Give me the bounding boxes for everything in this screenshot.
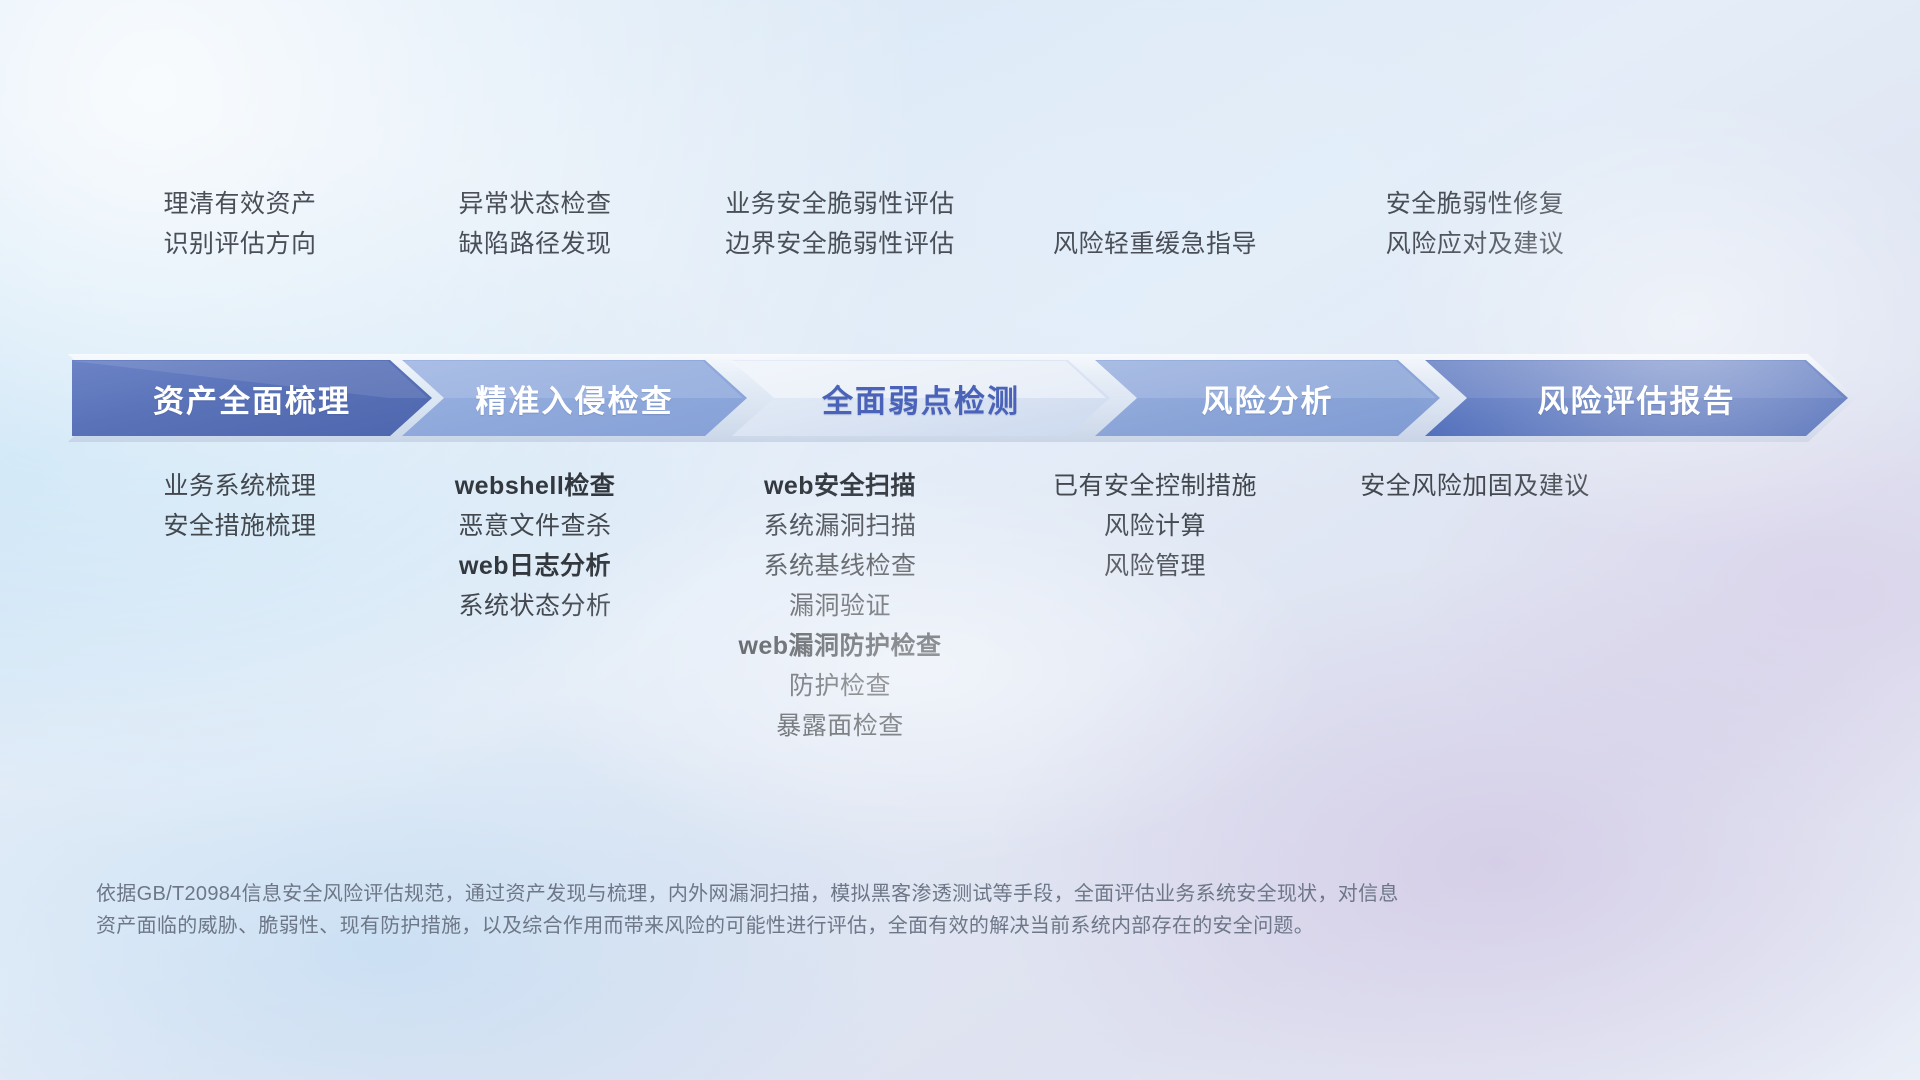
top-notes-risk-analysis: 风险轻重缓急指导 [1000, 184, 1310, 264]
list-item: web漏洞防护检查 [680, 626, 1000, 666]
top-notes-asset-inventory: 理清有效资产 识别评估方向 [90, 184, 390, 264]
top-notes-row: 理清有效资产 识别评估方向 异常状态检查 缺陷路径发现 业务安全脆弱性评估 边界… [90, 184, 1840, 264]
top-note: 缺陷路径发现 [390, 224, 680, 264]
list-item: 暴露面检查 [680, 706, 1000, 746]
list-item: 业务系统梳理 [90, 466, 390, 506]
bottom-lists-row: 业务系统梳理 安全措施梳理 webshell检查 恶意文件查杀 web日志分析 … [90, 466, 1840, 746]
spacer [1000, 184, 1310, 224]
list-item: 恶意文件查杀 [390, 506, 680, 546]
list-assessment-report: 安全风险加固及建议 [1310, 466, 1640, 746]
list-item: 系统基线检查 [680, 546, 1000, 586]
list-item: 风险管理 [1000, 546, 1310, 586]
list-item: 已有安全控制措施 [1000, 466, 1310, 506]
top-note: 风险应对及建议 [1310, 224, 1640, 264]
stage-title: 精准入侵检查 [476, 376, 674, 421]
footer-line-2: 资产面临的威胁、脆弱性、现有防护措施，以及综合作用而带来风险的可能性进行评估，全… [96, 910, 1616, 942]
stage-asset-inventory[interactable]: 资产全面梳理 [72, 360, 432, 436]
top-note: 识别评估方向 [90, 224, 390, 264]
stage-risk-analysis[interactable]: 风险分析 [1095, 360, 1440, 436]
footer-line-1: 依据GB/T20984信息安全风险评估规范，通过资产发现与梳理，内外网漏洞扫描，… [96, 878, 1616, 910]
stage-weakness-detection[interactable]: 全面弱点检测 [732, 360, 1110, 436]
stage-title: 资产全面梳理 [153, 376, 351, 421]
list-item: 系统漏洞扫描 [680, 506, 1000, 546]
list-item: 漏洞验证 [680, 586, 1000, 626]
list-item: webshell检查 [390, 466, 680, 506]
top-note: 异常状态检查 [390, 184, 680, 224]
stage-title: 全面弱点检测 [822, 376, 1020, 421]
top-note: 风险轻重缓急指导 [1000, 224, 1310, 264]
top-notes-intrusion-check: 异常状态检查 缺陷路径发现 [390, 184, 680, 264]
list-weakness-detection: web安全扫描 系统漏洞扫描 系统基线检查 漏洞验证 web漏洞防护检查 防护检… [680, 466, 1000, 746]
stage-title: 风险分析 [1202, 376, 1334, 421]
stage-intrusion-check[interactable]: 精准入侵检查 [402, 360, 747, 436]
list-risk-analysis: 已有安全控制措施 风险计算 风险管理 [1000, 466, 1310, 746]
top-note: 安全脆弱性修复 [1310, 184, 1640, 224]
top-note: 业务安全脆弱性评估 [680, 184, 1000, 224]
stage-title: 风险评估报告 [1538, 376, 1736, 421]
list-item: 系统状态分析 [390, 586, 680, 626]
list-item: web安全扫描 [680, 466, 1000, 506]
top-notes-weakness-detection: 业务安全脆弱性评估 边界安全脆弱性评估 [680, 184, 1000, 264]
list-asset-inventory: 业务系统梳理 安全措施梳理 [90, 466, 390, 746]
top-note: 边界安全脆弱性评估 [680, 224, 1000, 264]
process-arrow-banner: 资产全面梳理 精准入侵检查 [72, 360, 1848, 436]
footer-description: 依据GB/T20984信息安全风险评估规范，通过资产发现与梳理，内外网漏洞扫描，… [96, 878, 1616, 942]
list-item: 防护检查 [680, 666, 1000, 706]
list-item: 风险计算 [1000, 506, 1310, 546]
top-note: 理清有效资产 [90, 184, 390, 224]
list-item: 安全风险加固及建议 [1310, 466, 1640, 506]
slide-canvas: 理清有效资产 识别评估方向 异常状态检查 缺陷路径发现 业务安全脆弱性评估 边界… [0, 0, 1920, 1080]
list-intrusion-check: webshell检查 恶意文件查杀 web日志分析 系统状态分析 [390, 466, 680, 746]
list-item: 安全措施梳理 [90, 506, 390, 546]
list-item: web日志分析 [390, 546, 680, 586]
stage-assessment-report[interactable]: 风险评估报告 [1425, 360, 1848, 436]
top-notes-assessment-report: 安全脆弱性修复 风险应对及建议 [1310, 184, 1640, 264]
